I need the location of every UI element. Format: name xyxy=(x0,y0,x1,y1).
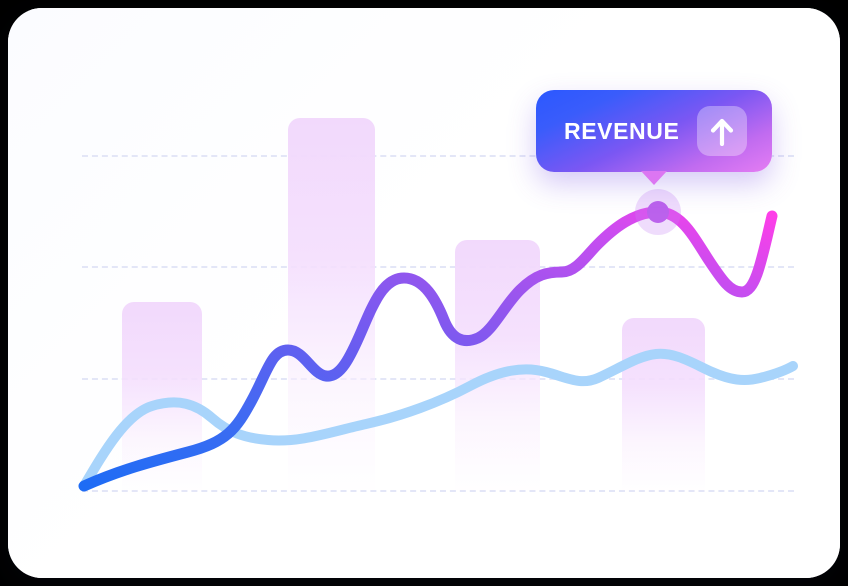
baseline-line-path xyxy=(84,354,793,486)
arrow-up-icon xyxy=(697,106,747,156)
tooltip-tail xyxy=(641,171,667,185)
revenue-tooltip[interactable]: REVENUE xyxy=(536,90,772,172)
data-point-marker[interactable] xyxy=(647,201,669,223)
revenue-line-path xyxy=(84,212,772,486)
revenue-chart-card: REVENUE xyxy=(8,8,840,578)
screenshot-stage: REVENUE xyxy=(0,0,848,586)
tooltip-label: REVENUE xyxy=(564,120,679,143)
